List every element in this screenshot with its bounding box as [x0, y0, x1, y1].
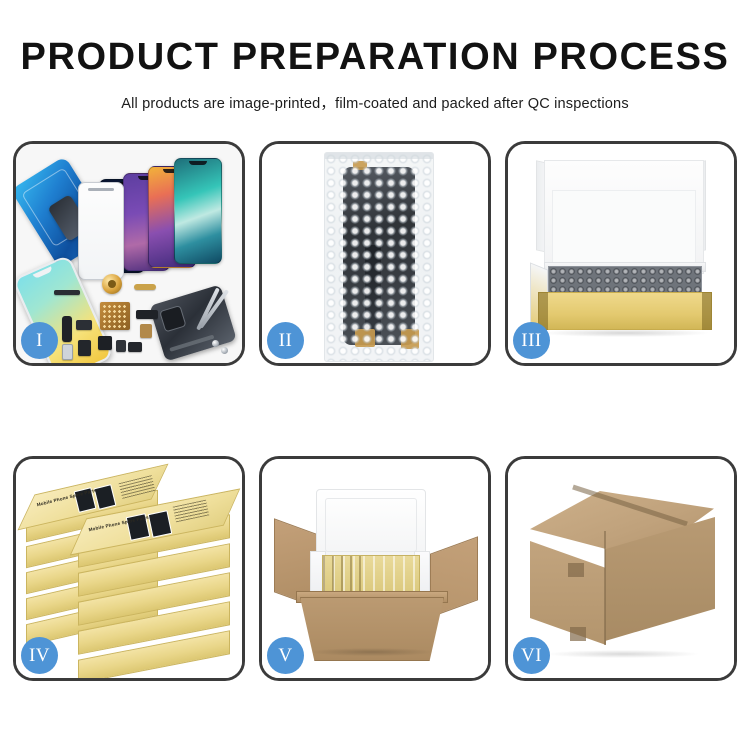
- process-step-card-5[interactable]: V: [259, 456, 491, 681]
- small-part-icon: [134, 284, 156, 290]
- screw-part-icon: [221, 347, 228, 354]
- small-part-icon: [62, 316, 72, 342]
- box-inner-liner: [552, 190, 696, 264]
- small-part-icon: [140, 324, 152, 338]
- small-part-icon: [76, 320, 92, 330]
- process-step-card-4[interactable]: Mobile Phone Spare Parts Mobile Phone Sp…: [13, 456, 245, 681]
- process-step-card-2[interactable]: II: [259, 141, 491, 366]
- small-part-icon: [136, 310, 158, 319]
- step-badge-4: IV: [21, 637, 58, 674]
- small-part-icon: [54, 290, 80, 295]
- small-part-icon: [116, 340, 126, 352]
- small-part-icon: [128, 342, 142, 352]
- page-title: PRODUCT PREPARATION PROCESS: [0, 38, 750, 78]
- bubble-wrap-bag-icon: [324, 152, 434, 362]
- drop-shadow: [310, 648, 434, 656]
- page-subtitle: All products are image-printed，film-coat…: [0, 92, 750, 113]
- step-badge-3: III: [513, 322, 550, 359]
- screw-part-icon: [212, 340, 219, 347]
- foam-box-lid-icon: [316, 489, 426, 563]
- process-step-grid: I II: [13, 141, 737, 681]
- step-badge-5: V: [267, 637, 304, 674]
- box-front-panel: [538, 292, 712, 330]
- step-badge-2: II: [267, 322, 304, 359]
- small-part-icon: [78, 340, 91, 356]
- glass-screen-panel-icon: [78, 182, 124, 280]
- small-part-icon: [62, 344, 73, 360]
- carton-tape-patch: [568, 563, 584, 577]
- chip-board-part-icon: [100, 302, 130, 330]
- wireless-coil-part-icon: [102, 274, 122, 294]
- step-badge-6: VI: [513, 637, 550, 674]
- process-step-card-6[interactable]: VI: [505, 456, 737, 681]
- step-badge-1: I: [21, 322, 58, 359]
- drop-shadow: [548, 650, 698, 658]
- page-header: PRODUCT PREPARATION PROCESS All products…: [0, 0, 750, 113]
- carton-vertical-edge: [604, 531, 606, 645]
- phone-device-1-icon: [174, 158, 222, 264]
- drop-shadow: [542, 329, 708, 337]
- process-step-card-3[interactable]: III: [505, 141, 737, 366]
- bag-seal-edge: [325, 153, 433, 159]
- bubble-texture: [325, 153, 433, 361]
- small-part-icon: [98, 336, 112, 350]
- carton-tape-patch: [570, 627, 586, 641]
- process-step-card-1[interactable]: I: [13, 141, 245, 366]
- carton-left-face: [530, 541, 606, 645]
